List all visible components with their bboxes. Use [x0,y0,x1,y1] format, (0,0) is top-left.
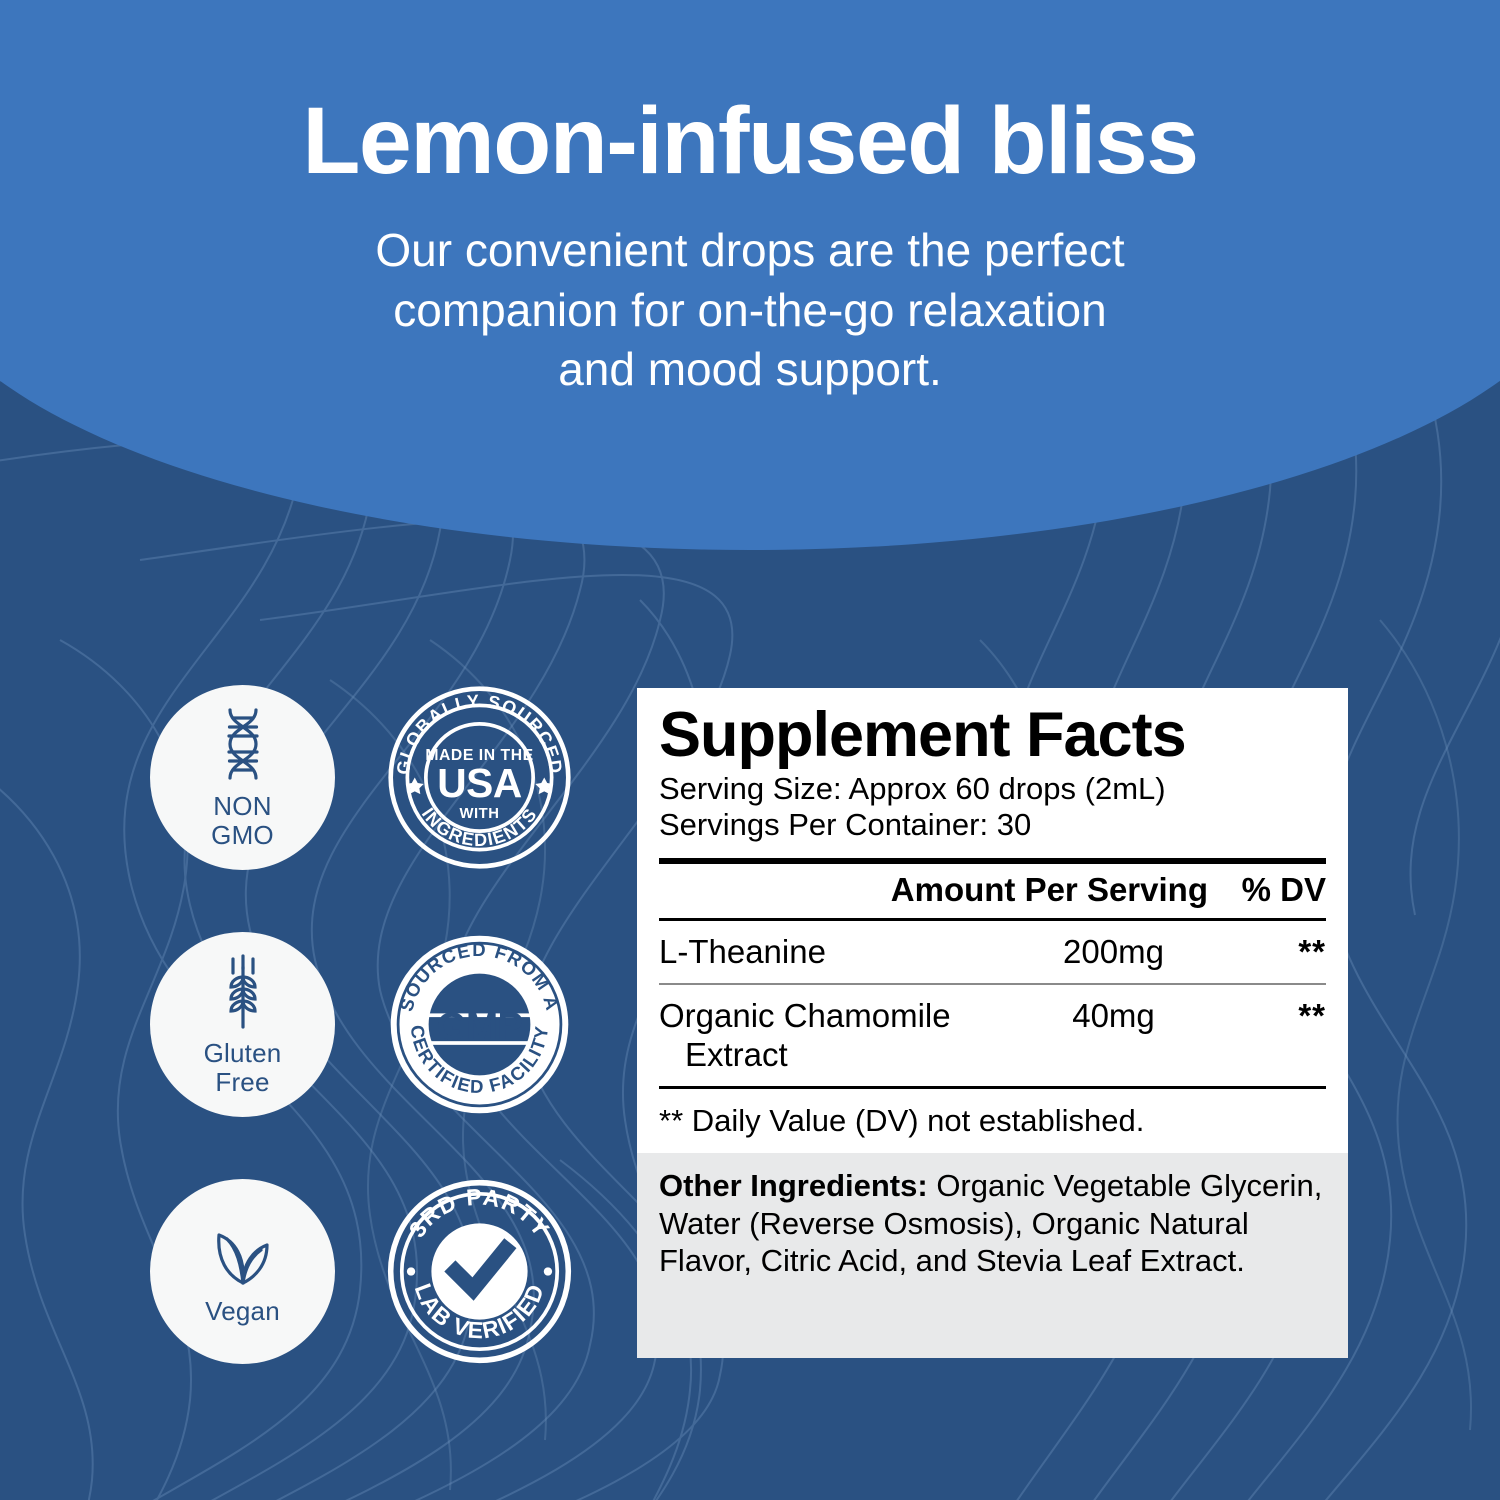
ingredient-dv: ** [1221,933,1326,971]
leaves-icon [205,1217,281,1289]
ingredient-name-continued: Extract [659,1036,1006,1075]
usa-seal-line-2: USA [437,760,522,806]
infographic-canvas: Lemon-infused bliss Our convenient drops… [0,0,1500,1500]
badge-gmp-certified: SOURCED FROM A CERTIFIED FACILITY GMP [387,932,572,1117]
ingredient-dv: ** [1221,997,1326,1035]
gmp-seal-center-text: GMP [437,1005,523,1048]
other-ingredients-section: Other Ingredients: Organic Vegetable Gly… [637,1153,1348,1358]
table-row: L-Theanine 200mg ** [659,921,1326,984]
usa-seal-line-3: WITH [459,806,499,822]
column-header-amount: Amount Per Serving [891,871,1208,909]
servings-per-container: Servings Per Container: 30 [659,807,1326,843]
badge-row-2: Gluten Free SOURCED FROM A CERTIFI [150,932,570,1117]
serving-size: Serving Size: Approx 60 drops (2mL) [659,771,1326,807]
badge-row-3: Vegan 3RD PARTY LAB VERIFIED [150,1179,570,1364]
certification-badges: NON GMO GLOBALLY SOURCED INGREDIENTS [150,685,570,1364]
supplement-facts-body: Supplement Facts Serving Size: Approx 60… [637,688,1348,1153]
column-header-dv: % DV [1208,871,1326,909]
badge-row-1: NON GMO GLOBALLY SOURCED INGREDIENTS [150,685,570,870]
daily-value-footnote: ** Daily Value (DV) not established. [659,1089,1326,1153]
subtitle-line-3: and mood support. [558,343,942,395]
badge-made-in-usa: GLOBALLY SOURCED INGREDIENTS MADE IN THE… [387,685,572,870]
table-row: Organic Chamomile Extract 40mg ** [659,985,1326,1086]
page-title: Lemon-infused bliss [302,92,1197,191]
badge-3rd-party-lab-verified: 3RD PARTY LAB VERIFIED [387,1179,572,1364]
ingredient-amount: 40mg [1006,997,1221,1035]
supplement-facts-panel: Supplement Facts Serving Size: Approx 60… [637,688,1348,1358]
table-header-row: Amount Per Serving % DV [659,864,1326,918]
ingredient-name: L-Theanine [659,933,1006,972]
subtitle-line-2: companion for on-the-go relaxation [393,284,1106,336]
page-subtitle: Our convenient drops are the perfect com… [375,221,1124,400]
badge-gluten-free: Gluten Free [150,932,335,1117]
badge-label-vegan: Vegan [205,1297,280,1325]
ingredient-amount: 200mg [1006,933,1221,971]
badge-non-gmo: NON GMO [150,685,335,870]
supplement-facts-title: Supplement Facts [659,704,1326,767]
badge-vegan: Vegan [150,1179,335,1364]
dna-helix-icon [212,706,274,784]
badge-label-gluten-free: Gluten Free [204,1039,282,1095]
wheat-stalk-icon [213,953,273,1031]
ingredient-name: Organic Chamomile Extract [659,997,1006,1074]
badge-label-non-gmo: NON GMO [211,792,274,848]
header-text-block: Lemon-infused bliss Our convenient drops… [0,0,1500,560]
subtitle-line-1: Our convenient drops are the perfect [375,224,1124,276]
other-ingredients-label: Other Ingredients: [659,1168,928,1203]
